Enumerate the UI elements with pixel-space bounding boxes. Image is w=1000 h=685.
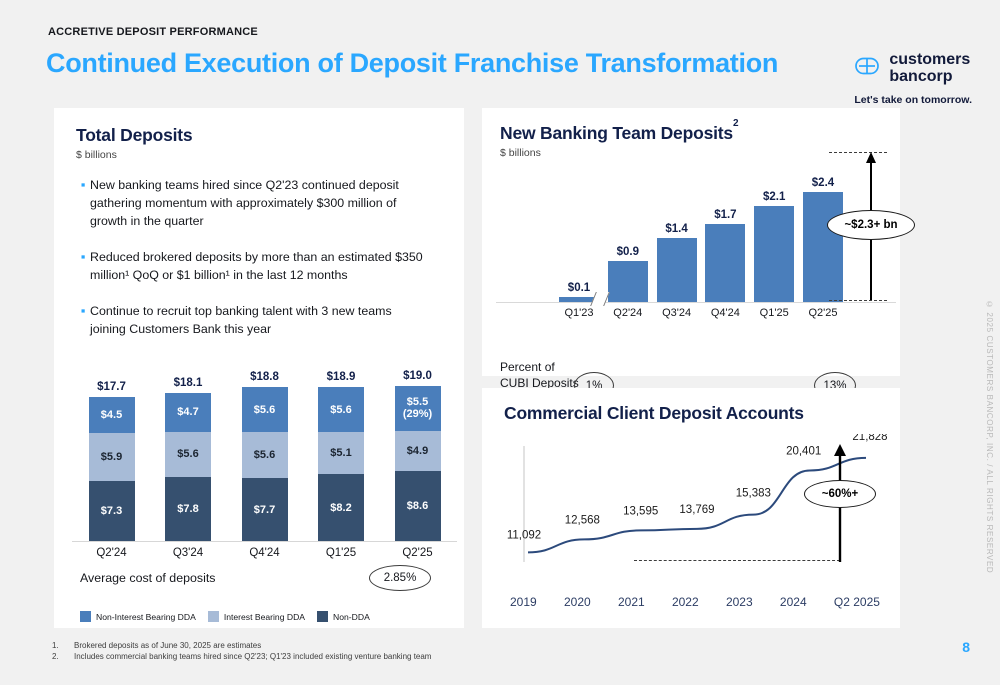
nbt-bar-value-label: $2.4: [812, 177, 834, 189]
stacked-bar-segment: $8.6: [395, 471, 441, 541]
legend-swatch: [208, 611, 219, 622]
x-axis-tick-label: Q2'25: [386, 547, 449, 559]
ccda-data-label: 13,595: [623, 505, 658, 517]
nbt-bar-value-label: $2.1: [763, 191, 785, 203]
nbt-bar-value-label: $0.9: [617, 246, 639, 258]
x-axis-tick-label: Q1'25: [310, 547, 373, 559]
nbt-bar: [608, 261, 648, 302]
stacked-bar-total-label: $18.8: [250, 371, 279, 383]
nbt-bar-value-label: $1.4: [665, 223, 687, 235]
nbt-bar: [657, 238, 697, 302]
footnote-number: 1.: [52, 641, 74, 650]
x-axis-tick-label: 2022: [672, 595, 699, 609]
total-deposits-stacked-chart: $17.7$4.5$5.9$7.3$18.1$4.7$5.6$7.8$18.8$…: [72, 336, 457, 626]
x-axis-tick-label: 2021: [618, 595, 645, 609]
percent-of-cubi-label: Percent of CUBI Deposits: [500, 360, 579, 391]
total-deposits-title: Total Deposits: [76, 125, 444, 146]
stacked-bar: $5.6$5.6$7.7: [242, 387, 288, 541]
x-axis-tick-label: Q4'24: [233, 547, 296, 559]
total-deposits-subtitle: $ billions: [76, 149, 444, 161]
footnote-number: 2.: [52, 652, 74, 661]
x-axis-tick-label: Q1'25: [751, 307, 797, 319]
x-axis-tick-label: 2023: [726, 595, 753, 609]
total-deposits-bullets: ▪ New banking teams hired since Q2'23 co…: [76, 177, 444, 339]
ccda-callout: ~60%+: [812, 444, 872, 564]
bullet-text: Continue to recruit top banking talent w…: [90, 303, 425, 339]
stacked-bar-segment: $5.1: [318, 432, 364, 474]
footnote-text: Brokered deposits as of June 30, 2025 ar…: [74, 641, 261, 650]
nbt-bar: [803, 192, 843, 302]
stacked-bar-column: $18.1$4.7$5.6$7.8: [157, 377, 220, 541]
legend-label: Interest Bearing DDA: [224, 612, 305, 622]
footnote-item: 2. Includes commercial banking teams hir…: [52, 652, 431, 661]
list-item: ▪ Reduced brokered deposits by more than…: [76, 249, 444, 285]
nbt-bar-column: $1.7: [702, 209, 748, 302]
stacked-bar-total-label: $18.9: [327, 371, 356, 383]
stacked-bar-segment: $5.6: [242, 432, 288, 478]
stacked-bar-segment: $8.2: [318, 474, 364, 541]
ccda-line-chart: 11,09212,56813,59513,76915,38320,40121,8…: [494, 434, 894, 609]
nbt-bar-column: $2.1: [751, 191, 797, 302]
legend-label: Non-Interest Bearing DDA: [96, 612, 196, 622]
legend-item: Interest Bearing DDA: [208, 611, 305, 622]
nbt-bar-value-label: $0.1: [568, 282, 590, 294]
percent-label-line-1: Percent of: [500, 360, 579, 376]
bullet-text: Reduced brokered deposits by more than a…: [90, 249, 425, 285]
nbt-bar-column: $0.9: [605, 246, 651, 302]
brand-tagline: Let's take on tomorrow.: [854, 94, 972, 106]
stacked-bar-segment: $5.6: [165, 432, 211, 478]
list-item: ▪ Continue to recruit top banking talent…: [76, 303, 444, 339]
x-axis-tick-label: 2020: [564, 595, 591, 609]
x-axis-tick-label: Q1'23: [556, 307, 602, 319]
stacked-bar-segment: $4.9: [395, 431, 441, 471]
logo-line-1: customers: [889, 52, 970, 69]
footnote-text: Includes commercial banking teams hired …: [74, 652, 431, 661]
total-deposits-panel: Total Deposits $ billions ▪ New banking …: [54, 108, 464, 628]
x-axis-tick-label: Q3'24: [157, 547, 220, 559]
stacked-bar-segment: $7.3: [89, 481, 135, 541]
x-axis-tick-label: Q2'24: [605, 307, 651, 319]
stacked-bar-total-label: $19.0: [403, 370, 432, 382]
stacked-bar: $4.7$5.6$7.8: [165, 393, 211, 541]
stacked-bar-segment: $5.5(29%): [395, 386, 441, 431]
eyebrow-label: ACCRETIVE DEPOSIT PERFORMANCE: [48, 26, 258, 38]
legend-label: Non-DDA: [333, 612, 370, 622]
nbt-bar: [705, 224, 745, 302]
new-banking-team-deposits-panel: New Banking Team Deposits2 $ billions $0…: [482, 108, 900, 376]
stacked-chart-legend: Non-Interest Bearing DDAInterest Bearing…: [72, 611, 457, 622]
x-axis-tick-label: Q2'25: [800, 307, 846, 319]
nbt-callout: ~$2.3+ bn: [841, 152, 901, 304]
copyright-notice: © 2025 CUSTOMERS BANCORP, INC. / ALL RIG…: [985, 300, 994, 573]
bullet-dot-icon: ▪: [76, 178, 90, 231]
average-cost-row: Average cost of deposits 2.85%: [72, 565, 457, 591]
ccda-data-label: 12,568: [565, 514, 600, 526]
nbt-bar: [754, 206, 794, 302]
bullet-text: New banking teams hired since Q2'23 cont…: [90, 177, 425, 231]
stacked-bar-segment: $4.5: [89, 397, 135, 434]
legend-item: Non-DDA: [317, 611, 370, 622]
stacked-bar-column: $19.0$5.5(29%)$4.9$8.6: [386, 370, 449, 541]
average-cost-value: 2.85%: [369, 565, 431, 591]
stacked-bar-segment: $7.7: [242, 478, 288, 541]
legend-swatch: [80, 611, 91, 622]
x-axis-tick-label: 2024: [780, 595, 807, 609]
x-axis-tick-label: Q2'24: [80, 547, 143, 559]
commercial-client-deposit-accounts-panel: Commercial Client Deposit Accounts 11,09…: [482, 388, 900, 628]
stacked-bar-column: $17.7$4.5$5.9$7.3: [80, 381, 143, 541]
page-title: Continued Execution of Deposit Franchise…: [46, 48, 778, 79]
nbt-callout-value: ~$2.3+ bn: [827, 210, 915, 240]
slide: ACCRETIVE DEPOSIT PERFORMANCE Continued …: [0, 0, 1000, 685]
nbt-bar-column: $2.4: [800, 177, 846, 302]
ccda-data-label: 11,092: [507, 529, 541, 541]
stacked-bar-column: $18.9$5.6$5.1$8.2: [310, 371, 373, 541]
stacked-bar-segment: $7.8: [165, 477, 211, 541]
stacked-bar-segment: $4.7: [165, 393, 211, 431]
stacked-bar: $5.6$5.1$8.2: [318, 387, 364, 541]
footnotes: 1. Brokered deposits as of June 30, 2025…: [52, 641, 431, 663]
nbt-title: New Banking Team Deposits2: [500, 123, 882, 144]
stacked-bar-segment: $5.6: [242, 387, 288, 433]
nbt-title-text: New Banking Team Deposits: [500, 123, 733, 143]
page-number: 8: [962, 639, 970, 655]
nbt-title-superscript: 2: [733, 118, 738, 129]
nbt-bar-column: $1.4: [654, 223, 700, 302]
nbt-bar-chart: $0.1$0.9$1.4$1.7$2.1$2.4 Q1'23Q2'24Q3'24…: [496, 154, 896, 304]
callout-baseline-dash: [634, 560, 840, 561]
ccda-data-label: 21,828: [852, 434, 887, 443]
x-axis-tick-label: Q2 2025: [834, 595, 880, 609]
brand-logo: customers bancorp Let's take on tomorrow…: [854, 52, 972, 106]
customers-bancorp-mark-icon: [854, 53, 880, 84]
ccda-callout-value: ~60%+: [804, 480, 876, 508]
footnote-item: 1. Brokered deposits as of June 30, 2025…: [52, 641, 431, 650]
legend-swatch: [317, 611, 328, 622]
stacked-bar: $5.5(29%)$4.9$8.6: [395, 386, 441, 541]
stacked-bar-segment: $5.9: [89, 433, 135, 481]
bullet-dot-icon: ▪: [76, 250, 90, 285]
stacked-bar-total-label: $18.1: [174, 377, 203, 389]
ccda-data-label: 13,769: [679, 504, 714, 516]
stacked-bar-segment: $5.6: [318, 387, 364, 433]
ccda-data-label: 15,383: [736, 488, 771, 500]
stacked-bar: $4.5$5.9$7.3: [89, 397, 135, 541]
x-axis-tick-label: Q4'24: [702, 307, 748, 319]
list-item: ▪ New banking teams hired since Q2'23 co…: [76, 177, 444, 231]
ccda-title: Commercial Client Deposit Accounts: [504, 403, 882, 424]
bullet-dot-icon: ▪: [76, 304, 90, 339]
x-axis-tick-label: 2019: [510, 595, 537, 609]
stacked-bar-column: $18.8$5.6$5.6$7.7: [233, 371, 296, 541]
x-axis-tick-label: Q3'24: [654, 307, 700, 319]
stacked-bar-total-label: $17.7: [97, 381, 126, 393]
average-cost-label: Average cost of deposits: [80, 571, 215, 585]
logo-line-2: bancorp: [889, 69, 970, 86]
legend-item: Non-Interest Bearing DDA: [80, 611, 196, 622]
nbt-bar-value-label: $1.7: [714, 209, 736, 221]
